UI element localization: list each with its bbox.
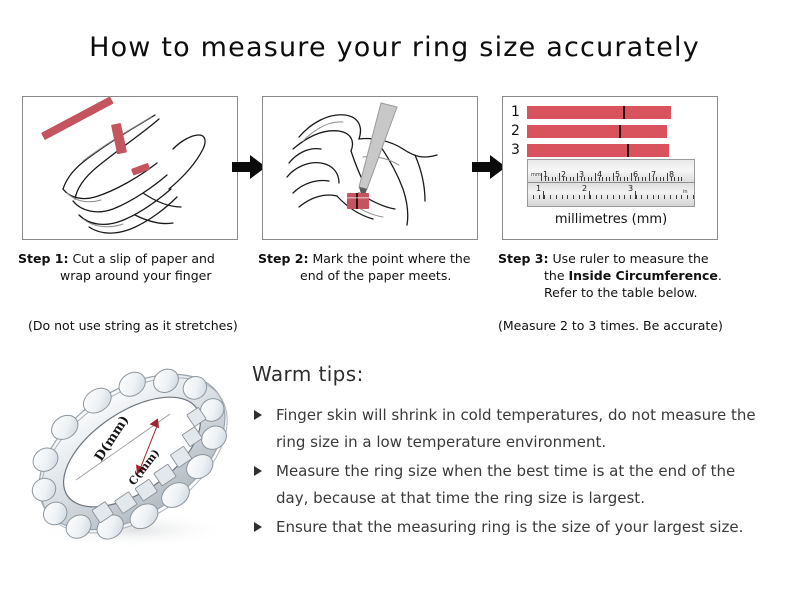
- tip-item: Ensure that the measuring ring is the si…: [252, 514, 772, 541]
- ruler-mm-minor-tick: [645, 177, 646, 181]
- step-3-line2: the Inside Circumference.: [498, 267, 748, 284]
- ruler-mm-minor-tick: [678, 177, 679, 181]
- paper-strip-3: [527, 144, 669, 157]
- ruler-inch-minor-tick: [556, 195, 557, 199]
- ruler-inch-minor-tick: [544, 195, 545, 199]
- tip-text: Ensure that the measuring ring is the si…: [276, 518, 743, 536]
- ruler-mm-minor-tick: [663, 177, 664, 181]
- ruler-mm-major-tick: [595, 173, 596, 181]
- strip-number-1: 1: [511, 105, 527, 119]
- ruler-inch-minor-tick: [613, 195, 614, 199]
- ruler-mm-minor-tick: [584, 177, 585, 181]
- eternity-ring-photo-illustration: [18, 352, 246, 562]
- warm-tips-heading: Warm tips:: [252, 362, 772, 386]
- ruler-mm-minor-tick: [609, 177, 610, 181]
- ruler-mm-minor-tick: [563, 177, 564, 181]
- ruler-mm-major-tick: [559, 173, 560, 181]
- ruler-mm-minor-tick: [545, 177, 546, 181]
- warm-tips-section: Warm tips: Finger skin will shrink in co…: [252, 362, 772, 543]
- ruler-inch-label: 2: [582, 185, 587, 193]
- ruler-mm-minor-tick: [591, 177, 592, 181]
- ruler-inch-minor-tick: [596, 195, 597, 199]
- ruler-inch-minor-tick: [681, 195, 682, 199]
- ruler-inch-minor-tick: [573, 195, 574, 199]
- ruler-mm-minor-tick: [566, 177, 567, 181]
- step-3-note: (Measure 2 to 3 times. Be accurate): [498, 318, 723, 333]
- ruler-inch-minor-tick: [567, 195, 568, 199]
- ruler-inch-minor-tick: [584, 195, 585, 199]
- pen-icon: [359, 103, 397, 201]
- paper-slip-red: [41, 97, 150, 176]
- bullet-triangle-icon: [254, 522, 262, 532]
- paper-band-with-mark: [347, 193, 369, 209]
- step-3-line1: Use ruler to measure the: [552, 251, 708, 266]
- ruler-mm-major-tick: [667, 173, 668, 181]
- step-1-line1: Cut a slip of paper and: [72, 251, 214, 266]
- ruler-mm-minor-tick: [602, 177, 603, 181]
- ruler-mm-minor-tick: [627, 177, 628, 181]
- ruler-mm-minor-tick: [588, 177, 589, 181]
- tip-item: Finger skin will shrink in cold temperat…: [252, 402, 772, 456]
- ruler-inch-label: 3: [628, 185, 633, 193]
- ruler-inch-minor-tick: [619, 195, 620, 199]
- ruler-mm-minor-tick: [681, 177, 682, 181]
- ruler-mm-minor-tick: [617, 177, 618, 181]
- paper-strip-1: [527, 106, 671, 119]
- ruler-mm-minor-tick: [638, 177, 639, 181]
- ruler-inch-unit-tag: in: [683, 189, 688, 195]
- measured-strip-row-1: 1: [511, 105, 671, 119]
- hand-with-paper-slip-drawing: [23, 97, 238, 240]
- ruler-mm-minor-tick: [635, 177, 636, 181]
- ruler-mm-major-tick: [541, 173, 542, 181]
- ruler-mm-minor-tick: [581, 177, 582, 181]
- ruler-inch-minor-tick: [562, 195, 563, 199]
- ruler-inch-label: 1: [536, 185, 541, 193]
- step-3-caption: Step 3: Use ruler to measure the the Ins…: [498, 250, 748, 301]
- strip-number-2: 2: [511, 124, 527, 138]
- ruler-inch-minor-tick: [693, 195, 694, 199]
- ruler-mm-major-tick: [649, 173, 650, 181]
- measured-strip-row-2: 2: [511, 124, 667, 138]
- ruler-divider: [527, 182, 695, 183]
- ruler-mm-minor-tick: [674, 177, 675, 181]
- ruler-mm-major-tick: [577, 173, 578, 181]
- step-1-note: (Do not use string as it stretches): [28, 318, 238, 333]
- ruler-mm-major-tick: [613, 173, 614, 181]
- arrow-step2-to-step3-icon: [472, 154, 506, 180]
- step-1-line2: wrap around your finger: [18, 267, 250, 284]
- ruler-mm-minor-tick: [642, 177, 643, 181]
- ruler-inch-minor-tick: [607, 195, 608, 199]
- step-2-line1: Mark the point where the: [312, 251, 470, 266]
- step-2-line2: end of the paper meets.: [258, 267, 490, 284]
- ruler-inch-minor-tick: [624, 195, 625, 199]
- ruler-mm-minor-tick: [653, 177, 654, 181]
- ruler-inch-minor-tick: [664, 195, 665, 199]
- tip-item: Measure the ring size when the best time…: [252, 458, 772, 512]
- step-captions: Step 1: Cut a slip of paper and wrap aro…: [0, 250, 789, 350]
- ruler-inch-minor-tick: [641, 195, 642, 199]
- ruler-mm-minor-tick: [552, 177, 553, 181]
- bullet-triangle-icon: [254, 466, 262, 476]
- page-title: How to measure your ring size accurately: [0, 32, 789, 63]
- step-1-label: Step 1:: [18, 251, 68, 266]
- step-2-illustration: [262, 96, 478, 240]
- ruler-inch-minor-tick: [533, 195, 534, 199]
- ruler-inch-minor-tick: [636, 195, 637, 199]
- ruler-inch-minor-tick: [676, 195, 677, 199]
- ruler-body: [527, 159, 695, 207]
- ruler-mm-minor-tick: [573, 177, 574, 181]
- strip-mark-1: [623, 106, 625, 119]
- ruler-caption: millimetres (mm): [503, 212, 718, 227]
- ruler-inch-minor-tick: [653, 195, 654, 199]
- strip-number-3: 3: [511, 143, 527, 157]
- ruler-mm-minor-tick: [548, 177, 549, 181]
- tip-text: Measure the ring size when the best time…: [276, 462, 735, 507]
- step-3-line2-suffix: .: [718, 268, 722, 283]
- measured-strip-row-3: 3: [511, 143, 669, 157]
- bullet-triangle-icon: [254, 410, 262, 420]
- ruler-inch-minor-tick: [670, 195, 671, 199]
- ruler-mm-major-tick: [631, 173, 632, 181]
- ruler-mm-minor-tick: [624, 177, 625, 181]
- ruler-inch-minor-tick: [630, 195, 631, 199]
- ruler-mm-minor-tick: [620, 177, 621, 181]
- step-3-line2-prefix: the: [544, 268, 569, 283]
- ruler-inch-minor-tick: [579, 195, 580, 199]
- ruler-inch-minor-tick: [647, 195, 648, 199]
- step-1-illustration: [22, 96, 238, 240]
- strip-mark-3: [627, 144, 629, 157]
- step-3-illustration: 1 2 3 12345678 mm 123 in millimetres (mm…: [502, 96, 718, 240]
- ruler-inch-minor-tick: [550, 195, 551, 199]
- step-3-line3: Refer to the table below.: [498, 284, 748, 301]
- ruler-inch-minor-tick: [601, 195, 602, 199]
- step-2-label: Step 2:: [258, 251, 308, 266]
- paper-strip-2: [527, 125, 667, 138]
- step-3-label: Step 3:: [498, 251, 548, 266]
- ruler-inch-minor-tick: [687, 195, 688, 199]
- ruler-inch-minor-tick: [539, 195, 540, 199]
- ruler-mm-minor-tick: [660, 177, 661, 181]
- ring-diagram: D(mm) C(mm): [18, 352, 246, 562]
- ruler-mm-minor-tick: [599, 177, 600, 181]
- ruler-mm-minor-tick: [606, 177, 607, 181]
- ruler-mm-minor-tick: [555, 177, 556, 181]
- hand-marking-paper-drawing: [263, 97, 478, 240]
- ruler-mm-minor-tick: [570, 177, 571, 181]
- ruler: 12345678 mm 123 in: [527, 159, 695, 207]
- ruler-inch-minor-tick: [658, 195, 659, 199]
- step-2-caption: Step 2: Mark the point where the end of …: [258, 250, 490, 284]
- step-1-caption: Step 1: Cut a slip of paper and wrap aro…: [18, 250, 250, 284]
- step-3-inside-circumference-emphasis: Inside Circumference: [569, 268, 718, 283]
- ruler-mm-minor-tick: [656, 177, 657, 181]
- steps-illustration-row: 1 2 3 12345678 mm 123 in millimetres (mm…: [0, 96, 789, 242]
- arrow-step1-to-step2-icon: [232, 154, 266, 180]
- ruler-mm-minor-tick: [671, 177, 672, 181]
- tip-text: Finger skin will shrink in cold temperat…: [276, 406, 756, 451]
- ruler-mm-unit-tag: mm: [531, 172, 541, 178]
- ruler-inch-minor-tick: [590, 195, 591, 199]
- strip-mark-2: [619, 125, 621, 138]
